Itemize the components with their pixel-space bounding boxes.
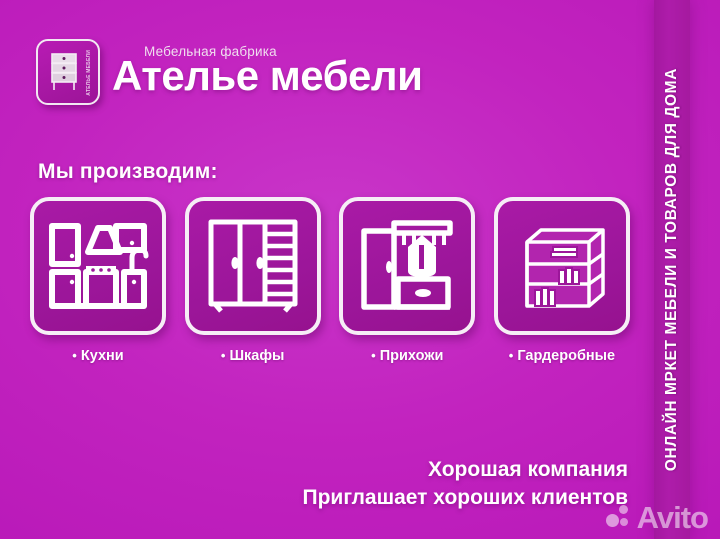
hallway-icon — [358, 217, 456, 315]
logo-badge: АТЕЛЬЕ МЕБЕЛИ — [36, 39, 100, 105]
bullet-icon: • — [72, 348, 77, 363]
side-banner-strip — [654, 0, 690, 539]
kitchen-icon — [46, 218, 150, 314]
section-heading: Мы производим: — [38, 160, 218, 184]
shelving-icon — [513, 216, 611, 316]
product-card-kitchen[interactable] — [30, 197, 166, 335]
product-label-text: Кухни — [81, 348, 124, 364]
slogan-block: Хорошая компания Приглашает хороших клие… — [303, 456, 628, 511]
product-label-row: • Кухни • Шкафы • Прихожи • Гардеробные — [30, 348, 630, 364]
logo-vertical-text-wrap: АТЕЛЬЕ МЕБЕЛИ — [84, 47, 93, 99]
avito-dots-icon — [606, 505, 634, 531]
slogan-line-1: Хорошая компания — [303, 456, 628, 484]
wardrobe-icon — [207, 216, 299, 316]
dresser-icon — [49, 52, 79, 94]
slogan-line-2: Приглашает хороших клиентов — [303, 484, 628, 512]
logo-vertical-text: АТЕЛЬЕ МЕБЕЛИ — [86, 50, 92, 96]
product-label-kitchen: • Кухни — [30, 348, 166, 364]
product-card-wardrobe[interactable] — [185, 197, 321, 335]
avito-wordmark: Avito — [637, 502, 708, 533]
product-label-text: Прихожи — [380, 348, 444, 364]
product-label-hallway: • Прихожи — [339, 348, 475, 364]
product-card-shelving[interactable] — [494, 197, 630, 335]
product-label-wardrobe: • Шкафы — [185, 348, 321, 364]
avito-watermark: Avito — [606, 502, 708, 533]
bullet-icon: • — [221, 348, 226, 363]
product-card-hallway[interactable] — [339, 197, 475, 335]
product-label-text: Гардеробные — [517, 348, 615, 364]
bullet-icon: • — [371, 348, 376, 363]
brand-title: Ателье мебели — [112, 52, 422, 100]
poster-canvas: ОНЛАЙН МРКЕТ МЕБЕЛИ И ТОВАРОВ ДЛЯ ДОМА А… — [0, 0, 720, 539]
product-label-shelving: • Гардеробные — [494, 348, 630, 364]
product-label-text: Шкафы — [229, 348, 284, 364]
bullet-icon: • — [509, 348, 514, 363]
